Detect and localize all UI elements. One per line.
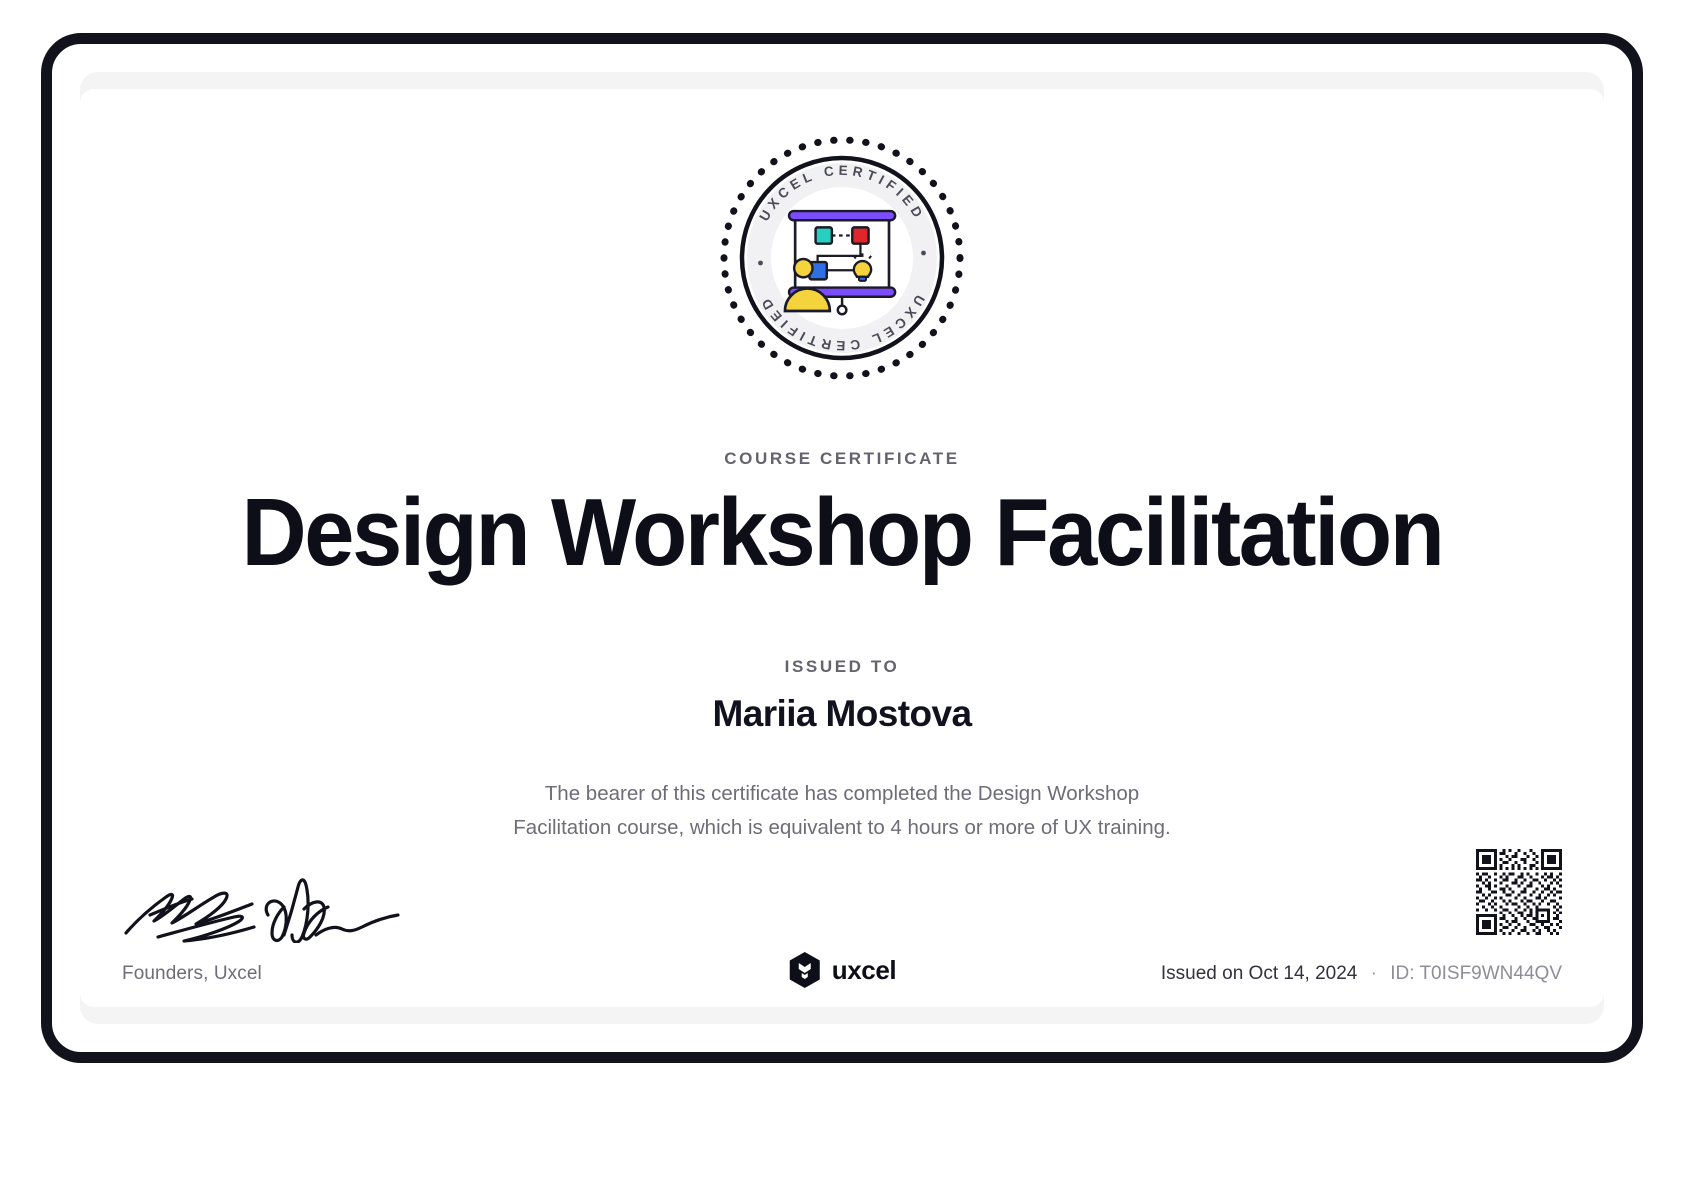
certificate-content-card: UXCEL CERTIFIED UXCEL CERTIFIED (80, 89, 1604, 1007)
recipient-name: Mariia Mostova (80, 693, 1604, 735)
founders-label: Founders, Uxcel (122, 963, 262, 985)
founder-signatures (122, 857, 412, 943)
issue-separator: · (1363, 963, 1385, 984)
signature-two (266, 880, 398, 942)
certificate-frame: UXCEL CERTIFIED UXCEL CERTIFIED (41, 33, 1643, 1063)
badge-dot-right (921, 251, 926, 256)
signature-one (126, 893, 254, 941)
certificate-footer: Founders, Uxcel uxcel (80, 817, 1604, 1007)
uxcel-brand-logo: uxcel (788, 951, 897, 989)
brand-name: uxcel (832, 955, 897, 986)
certificate-panel: UXCEL CERTIFIED UXCEL CERTIFIED (80, 72, 1604, 1024)
course-certificate-label: COURSE CERTIFICATE (80, 449, 1604, 469)
issued-to-label: ISSUED TO (80, 657, 1604, 677)
issue-details: Issued on Oct 14, 2024 · ID: T0ISF9WN44Q… (1161, 963, 1562, 985)
verification-qr-code[interactable] (1476, 849, 1562, 935)
description-line-1: The bearer of this certificate has compl… (462, 777, 1222, 811)
uxcel-hexagon-icon (788, 951, 822, 989)
uxcel-certified-badge: UXCEL CERTIFIED UXCEL CERTIFIED (717, 133, 967, 383)
certificate-id: ID: T0ISF9WN44QV (1390, 963, 1562, 984)
badge-dot-left (758, 261, 763, 266)
issued-on-date: Issued on Oct 14, 2024 (1161, 963, 1357, 984)
course-title: Design Workshop Facilitation (126, 481, 1559, 585)
